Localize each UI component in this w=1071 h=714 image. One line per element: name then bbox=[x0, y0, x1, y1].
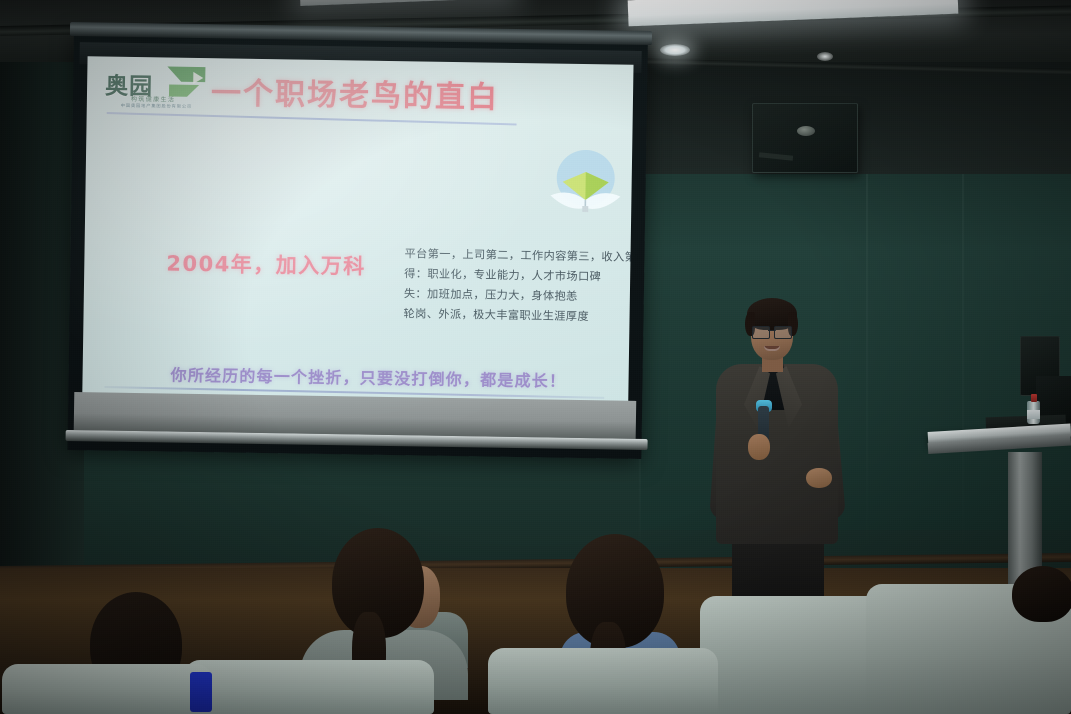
glasses-icon bbox=[752, 326, 792, 337]
presenter-mouth bbox=[764, 346, 780, 351]
audience-member-head bbox=[1012, 566, 1071, 622]
audience-chair bbox=[488, 648, 718, 714]
presentation-slide: 奥园 构筑健康生活 中国奥园地产集团股份有限公司 一个职场老鸟的直白 2 bbox=[82, 56, 633, 403]
speaker-bracket bbox=[759, 152, 793, 161]
presenter bbox=[702, 288, 867, 618]
lecture-room-photo: 奥园 构筑健康生活 中国奥园地产集团股份有限公司 一个职场老鸟的直白 2 bbox=[0, 0, 1071, 714]
slide-body-block: 平台第一，上司第二，工作内容第三，收入第四 得：职业化，专业能力，人才市场口碑 … bbox=[403, 244, 633, 328]
ceiling-spotlight-icon bbox=[817, 52, 833, 61]
audience-chair bbox=[184, 660, 434, 714]
water-bottle-icon bbox=[1027, 394, 1040, 424]
company-logo: 奥园 构筑健康生活 中国奥园地产集团股份有限公司 bbox=[105, 64, 214, 114]
wall-speaker-icon bbox=[752, 103, 858, 173]
glasses-lens bbox=[774, 326, 792, 339]
lectern bbox=[928, 418, 1071, 588]
audience-chair bbox=[2, 664, 212, 714]
presenter-right-hand bbox=[806, 468, 832, 488]
bottle-label bbox=[1027, 410, 1040, 419]
open-book-icon bbox=[542, 147, 629, 222]
logo-subtagline: 中国奥园地产集团股份有限公司 bbox=[121, 103, 192, 110]
audience-member-item bbox=[190, 672, 212, 712]
slide-quote: 你所经历的每一个挫折，只要没打倒你，都是成长！ bbox=[170, 362, 566, 392]
bottle-cap bbox=[1031, 394, 1037, 402]
lectern-column bbox=[1008, 452, 1042, 584]
ceiling-spotlight-icon bbox=[660, 44, 690, 56]
slide-year-line: 2004年，加入万科 bbox=[166, 247, 366, 280]
slide-body-line: 轮岗、外派，极大丰富职业生涯厚度 bbox=[403, 304, 633, 328]
presenter-left-hand bbox=[748, 434, 770, 460]
projection-screen: 奥园 构筑健康生活 中国奥园地产集团股份有限公司 一个职场老鸟的直白 2 bbox=[67, 30, 648, 459]
glasses-lens bbox=[752, 326, 770, 339]
slide-title: 一个职场老鸟的直白 bbox=[211, 68, 500, 117]
speaker-driver-icon bbox=[797, 126, 815, 136]
